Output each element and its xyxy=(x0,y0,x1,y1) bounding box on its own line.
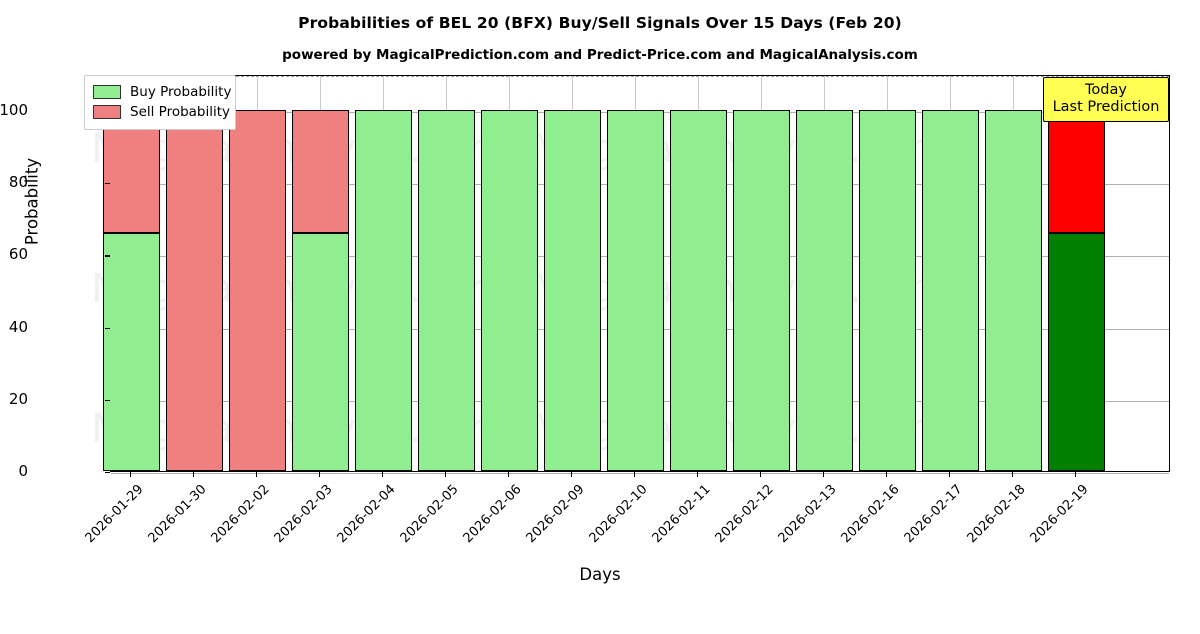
bar-segment-sell xyxy=(292,110,349,233)
y-tick-mark-40 xyxy=(105,328,110,329)
bar-group[interactable] xyxy=(481,76,538,471)
x-tick-mark-13 xyxy=(949,472,950,477)
x-tick-mark-6 xyxy=(508,472,509,477)
bar-group[interactable] xyxy=(292,76,349,471)
bar-segment-buy xyxy=(796,110,853,471)
bar-segment-buy xyxy=(1048,233,1105,471)
x-tick-mark-7 xyxy=(571,472,572,477)
legend-item[interactable]: Sell Probability xyxy=(93,102,227,122)
bar-group[interactable] xyxy=(103,76,160,471)
bar-group[interactable] xyxy=(670,76,727,471)
bar-segment-buy xyxy=(292,233,349,471)
bar-group[interactable] xyxy=(544,76,601,471)
x-tick-mark-8 xyxy=(634,472,635,477)
y-tick-label-0: 0 xyxy=(0,462,28,480)
y-axis-label: Probability xyxy=(23,2,42,402)
bar-segment-sell xyxy=(166,110,223,471)
legend-swatch-icon xyxy=(93,85,121,99)
x-tick-mark-2 xyxy=(256,472,257,477)
bar-group[interactable] xyxy=(166,76,223,471)
legend-item[interactable]: Buy Probability xyxy=(93,82,227,102)
bar-segment-sell xyxy=(1048,110,1105,233)
today-line1: Today xyxy=(1046,82,1166,99)
today-annotation: Today Last Prediction xyxy=(1043,77,1169,122)
bar-segment-buy xyxy=(418,110,475,471)
x-tick-mark-14 xyxy=(1012,472,1013,477)
bar-group[interactable] xyxy=(922,76,979,471)
x-tick-mark-9 xyxy=(697,472,698,477)
bar-segment-buy xyxy=(859,110,916,471)
plot-area: MagicalAnalysis.comMagicalAnalysis.comMa… xyxy=(110,75,1170,472)
chart-subtitle: powered by MagicalPrediction.com and Pre… xyxy=(0,47,1200,63)
bar-segment-buy xyxy=(481,110,538,471)
bar-segment-buy xyxy=(607,110,664,471)
x-tick-mark-0 xyxy=(130,472,131,477)
bar-group[interactable] xyxy=(1048,76,1105,471)
bar-segment-buy xyxy=(922,110,979,471)
y-tick-mark-0 xyxy=(105,472,110,473)
legend-label: Sell Probability xyxy=(130,104,230,120)
legend-swatch-icon xyxy=(93,105,121,119)
gridline-y-0 xyxy=(111,473,1169,474)
bar-segment-buy xyxy=(670,110,727,471)
x-tick-mark-1 xyxy=(193,472,194,477)
y-tick-mark-60 xyxy=(105,255,110,256)
chart-figure: Probabilities of BEL 20 (BFX) Buy/Sell S… xyxy=(0,0,1200,600)
bar-group[interactable] xyxy=(355,76,412,471)
bar-group[interactable] xyxy=(418,76,475,471)
x-tick-mark-4 xyxy=(382,472,383,477)
x-tick-mark-12 xyxy=(886,472,887,477)
x-tick-mark-5 xyxy=(445,472,446,477)
bar-group[interactable] xyxy=(733,76,790,471)
x-axis-label: Days xyxy=(0,565,1200,584)
bar-group[interactable] xyxy=(607,76,664,471)
x-tick-mark-3 xyxy=(319,472,320,477)
today-line2: Last Prediction xyxy=(1046,99,1166,116)
bar-group[interactable] xyxy=(796,76,853,471)
chart-title: Probabilities of BEL 20 (BFX) Buy/Sell S… xyxy=(0,14,1200,32)
y-tick-mark-80 xyxy=(105,183,110,184)
bar-segment-sell xyxy=(229,110,286,471)
bar-segment-buy xyxy=(103,233,160,471)
bar-segment-buy xyxy=(733,110,790,471)
bar-segment-buy xyxy=(544,110,601,471)
x-tick-mark-11 xyxy=(823,472,824,477)
y-tick-mark-20 xyxy=(105,400,110,401)
legend-label: Buy Probability xyxy=(130,84,231,100)
x-tick-mark-15 xyxy=(1075,472,1076,477)
bar-group[interactable] xyxy=(985,76,1042,471)
bar-segment-buy xyxy=(985,110,1042,471)
bar-group[interactable] xyxy=(229,76,286,471)
bar-segment-buy xyxy=(355,110,412,471)
bar-group[interactable] xyxy=(859,76,916,471)
x-tick-mark-10 xyxy=(760,472,761,477)
chart-legend: Buy ProbabilitySell Probability xyxy=(84,75,236,130)
